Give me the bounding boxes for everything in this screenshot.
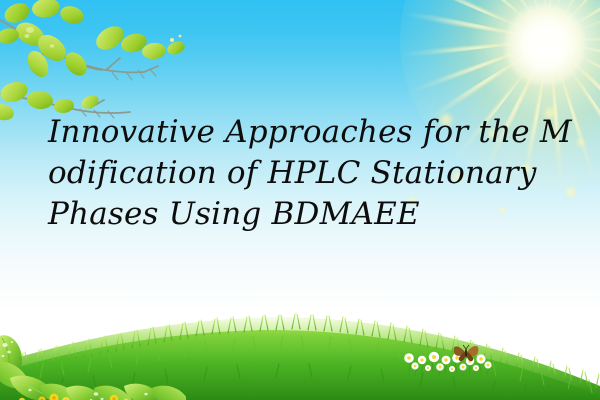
daisy-cluster <box>395 338 510 384</box>
page-title: Innovative Approaches for the M odificat… <box>48 112 568 235</box>
corner-foliage <box>0 330 186 400</box>
sun-core <box>505 5 585 85</box>
banner-image: Innovative Approaches for the M odificat… <box>0 0 600 400</box>
leaf-branch <box>0 0 224 126</box>
bokeh-light <box>576 138 585 147</box>
title-line-1: Innovative Approaches for the M <box>48 112 568 153</box>
title-line-3: Phases Using BDMAEE <box>48 194 568 235</box>
title-line-2: odification of HPLC Stationary <box>48 153 568 194</box>
